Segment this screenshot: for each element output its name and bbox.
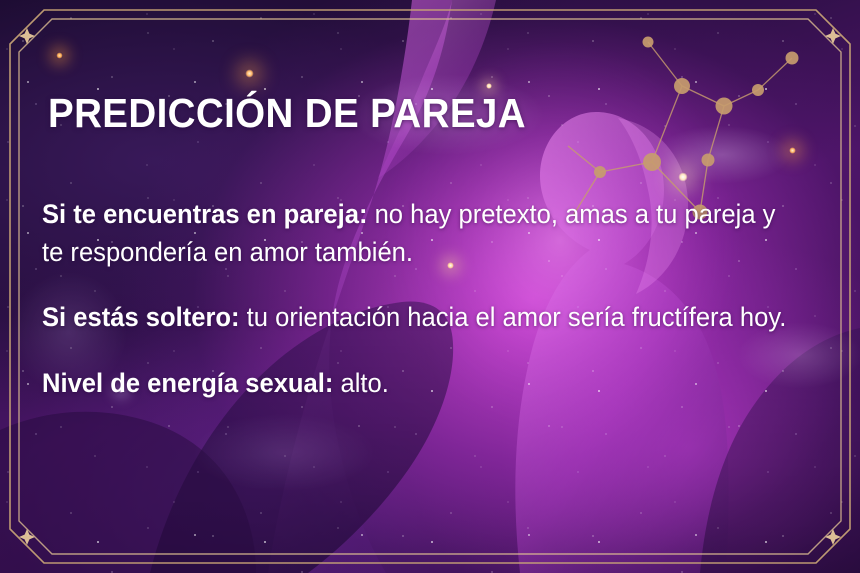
prediction-paragraph: Nivel de energía sexual: alto. — [42, 365, 795, 403]
paragraph-lead: Si te encuentras en pareja: — [42, 199, 367, 229]
prediction-paragraph: Si te encuentras en pareja: no hay prete… — [42, 196, 795, 271]
paragraph-body: tu orientación hacia el amor sería fruct… — [240, 302, 787, 332]
prediction-paragraph-list: Si te encuentras en pareja: no hay prete… — [42, 196, 822, 403]
poster-canvas: PREDICCIÓN DE PAREJA Si te encuentras en… — [0, 0, 860, 573]
paragraph-lead: Nivel de energía sexual: — [42, 368, 333, 398]
prediction-paragraph: Si estás soltero: tu orientación hacia e… — [42, 299, 795, 337]
page-title: PREDICCIÓN DE PAREJA — [48, 90, 526, 137]
paragraph-lead: Si estás soltero: — [42, 302, 240, 332]
paragraph-body: alto. — [333, 368, 388, 398]
content-area: PREDICCIÓN DE PAREJA Si te encuentras en… — [42, 0, 832, 573]
